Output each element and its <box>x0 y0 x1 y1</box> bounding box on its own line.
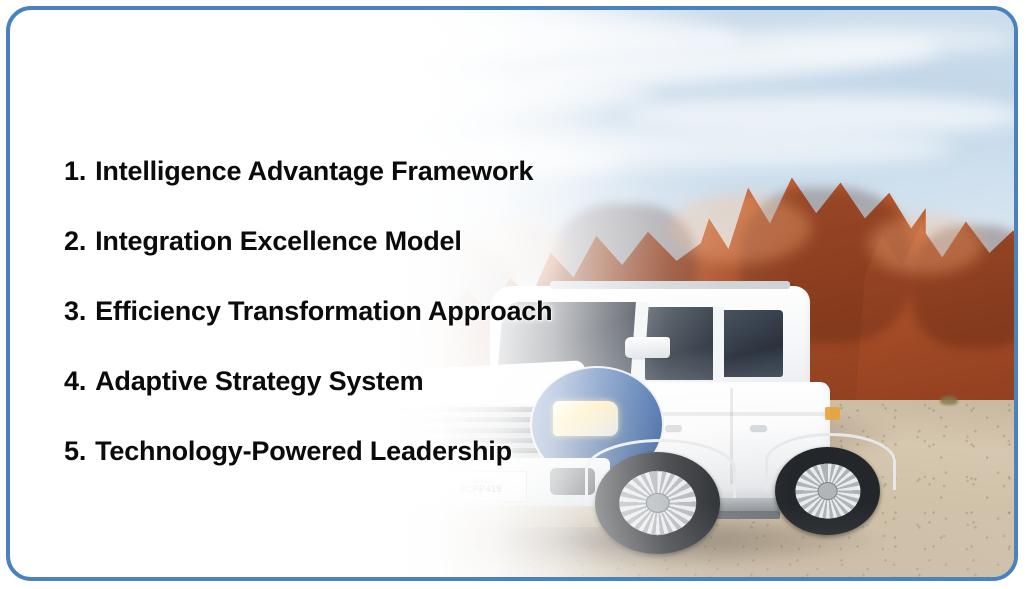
list-item: 2.Integration Excellence Model <box>64 206 684 276</box>
rock-highlight <box>868 215 983 274</box>
list-item-text: 2.Integration Excellence Model <box>64 226 462 257</box>
list-item-label: Integration Excellence Model <box>95 226 462 256</box>
list-item-number: 3. <box>64 296 86 326</box>
cloud <box>704 25 1014 54</box>
list-item: 3.Efficiency Transformation Approach <box>64 276 684 346</box>
list-item: 1.Intelligence Advantage Framework <box>64 136 684 206</box>
side-marker-light <box>825 407 840 420</box>
list-item-number: 1. <box>64 156 86 186</box>
list-item-text: 1.Intelligence Advantage Framework <box>64 156 533 187</box>
list-item-text: 4.Adaptive Strategy System <box>64 366 423 397</box>
list-item-text: 3.Efficiency Transformation Approach <box>64 296 552 327</box>
slide: Ford California 8CPP419 <box>0 0 1026 589</box>
b-pillar <box>713 307 724 382</box>
list-item-label: Efficiency Transformation Approach <box>95 296 552 326</box>
slide-canvas: Ford California 8CPP419 <box>10 10 1014 577</box>
rear-wheel <box>775 447 880 535</box>
wheel-hub <box>818 483 837 499</box>
list-item: 5.Technology-Powered Leadership <box>64 416 684 486</box>
list-item-label: Intelligence Advantage Framework <box>95 156 533 186</box>
lower-valance <box>375 506 605 527</box>
slide-border-frame: Ford California 8CPP419 <box>6 6 1018 581</box>
rock-highlight <box>668 194 811 263</box>
desert-brush <box>940 396 958 405</box>
rear-side-window <box>723 310 783 377</box>
list-item-number: 5. <box>64 436 86 466</box>
wheel-hub <box>646 494 669 512</box>
list-item-label: Technology-Powered Leadership <box>95 436 512 466</box>
list-item-text: 5.Technology-Powered Leadership <box>64 436 512 467</box>
cloud <box>324 77 653 109</box>
list-item-number: 4. <box>64 366 86 396</box>
list-item-label: Adaptive Strategy System <box>95 366 423 396</box>
door-handle <box>750 425 767 431</box>
list-item-number: 2. <box>64 226 86 256</box>
list-item: 4.Adaptive Strategy System <box>64 346 684 416</box>
numbered-list: 1.Intelligence Advantage Framework 2.Int… <box>64 136 684 486</box>
